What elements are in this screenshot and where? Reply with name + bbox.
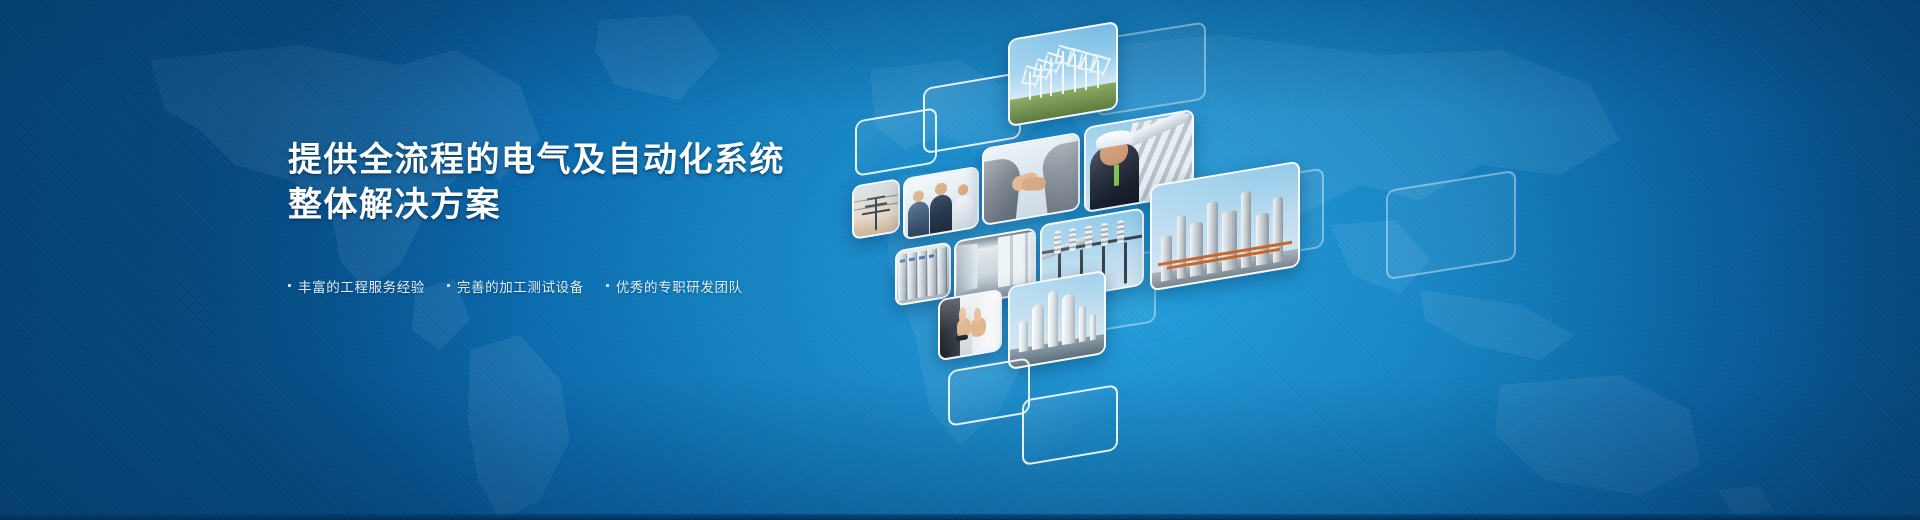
banner-copy: 提供全流程的电气及自动化系统 整体解决方案 丰富的工程服务经验 完善的加工测试设…	[288, 138, 1048, 296]
bullet-item-3: 优秀的专职研发团队	[606, 276, 743, 296]
tile-ghost-edge	[1386, 170, 1516, 281]
tile-empty-bottom-left[interactable]	[948, 357, 1030, 427]
bullet-dot-icon	[447, 284, 450, 287]
bullet-dot-icon	[288, 284, 291, 287]
tile-gloss	[1024, 386, 1116, 463]
photo-wind-turbine-farm	[1010, 23, 1116, 125]
bullet-item-1: 丰富的工程服务经验	[288, 276, 425, 296]
bullet-label-3: 优秀的专职研发团队	[616, 276, 743, 296]
bullet-dot-icon	[606, 284, 609, 287]
hero-banner: 提供全流程的电气及自动化系统 整体解决方案 丰富的工程服务经验 完善的加工测试设…	[0, 0, 1920, 520]
bullet-item-2: 完善的加工测试设备	[447, 276, 584, 296]
bullet-label-2: 完善的加工测试设备	[457, 276, 584, 296]
headline-line-2: 整体解决方案	[288, 183, 1048, 228]
tile-empty-bottom-mid[interactable]	[1022, 384, 1118, 466]
banner-bullet-list: 丰富的工程服务经验 完善的加工测试设备 优秀的专职研发团队	[288, 276, 1048, 296]
photo-petrochemical-refinery	[1152, 163, 1298, 289]
headline-line-1: 提供全流程的电气及自动化系统	[288, 140, 785, 180]
photo-thumbs-up-hands	[940, 291, 1000, 359]
tile-wind-farm[interactable]	[1008, 21, 1118, 127]
tile-thumbs-up[interactable]	[938, 289, 1002, 362]
banner-headline: 提供全流程的电气及自动化系统 整体解决方案	[288, 138, 1048, 228]
tile-gloss	[950, 359, 1028, 424]
bullet-label-1: 丰富的工程服务经验	[298, 276, 425, 296]
